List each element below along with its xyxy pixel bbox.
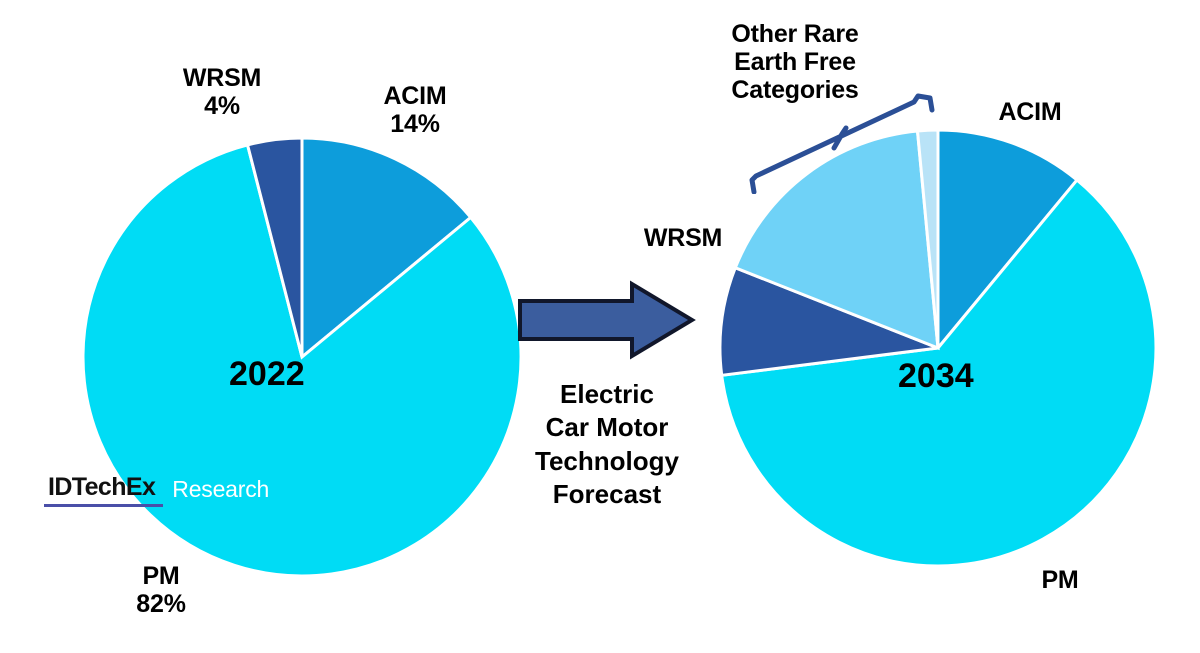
label-other-categories-2034: Other Rare Earth Free Categories xyxy=(705,20,885,104)
other-categories-bracket xyxy=(746,92,946,194)
logo-wordmark: IDTechEx xyxy=(44,473,163,507)
figure-canvas: WRSM 4% ACIM 14% PM 82% 2022 IDTechEx Re… xyxy=(0,0,1200,653)
idtechex-logo: IDTechEx Research xyxy=(44,473,278,507)
label-pm-2022: PM 82% xyxy=(96,562,226,618)
label-pm-2034: PM xyxy=(1020,566,1100,594)
label-acim-2034: ACIM xyxy=(975,98,1085,126)
forward-arrow-icon xyxy=(514,279,700,361)
logo-research-badge: Research xyxy=(163,473,278,507)
year-label-2022: 2022 xyxy=(229,355,305,394)
center-caption: Electric Car Motor Technology Forecast xyxy=(514,378,700,511)
label-wrsm-2034: WRSM xyxy=(633,224,733,252)
year-label-2034: 2034 xyxy=(898,357,974,396)
label-wrsm-2022: WRSM 4% xyxy=(152,64,292,120)
label-acim-2022: ACIM 14% xyxy=(340,82,490,138)
